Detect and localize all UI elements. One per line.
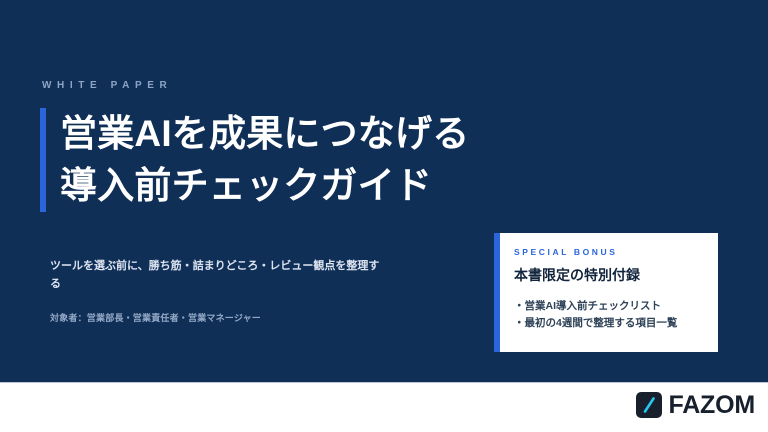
brand-logo: FAZOM bbox=[636, 392, 756, 418]
audience-text: 対象者：営業部長・営業責任者・営業マネージャー bbox=[50, 311, 261, 324]
list-item: ・営業AI導入前チェックリスト bbox=[514, 298, 706, 315]
special-bonus-card: SPECIAL BONUS 本書限定の特別付録 ・営業AI導入前チェックリスト … bbox=[494, 233, 718, 352]
footer-bar: FAZOM bbox=[0, 384, 768, 432]
bonus-card-list: ・営業AI導入前チェックリスト ・最初の4週間で整理する項目一覧 bbox=[514, 298, 706, 332]
title-block: 営業AIを成果につなげる 導入前チェックガイド bbox=[40, 108, 469, 212]
bonus-card-title: 本書限定の特別付録 bbox=[514, 265, 706, 285]
page-title-line-1: 営業AIを成果につなげる bbox=[60, 108, 469, 160]
slash-mark-icon bbox=[636, 392, 662, 418]
page-title-line-2: 導入前チェックガイド bbox=[60, 160, 469, 212]
subtitle-text: ツールを選ぶ前に、勝ち筋・詰まりどころ・レビュー観点を整理する bbox=[50, 258, 380, 293]
bonus-card-body: SPECIAL BONUS 本書限定の特別付録 ・営業AI導入前チェックリスト … bbox=[500, 233, 718, 352]
eyebrow-label: WHITE PAPER bbox=[42, 80, 172, 91]
bonus-eyebrow-label: SPECIAL BONUS bbox=[514, 247, 706, 257]
hero-section: WHITE PAPER 営業AIを成果につなげる 導入前チェックガイド ツールを… bbox=[0, 0, 768, 383]
whitepaper-cover-slide: WHITE PAPER 営業AIを成果につなげる 導入前チェックガイド ツールを… bbox=[0, 0, 768, 432]
title-lines: 営業AIを成果につなげる 導入前チェックガイド bbox=[46, 108, 469, 212]
brand-wordmark: FAZOM bbox=[669, 392, 756, 418]
list-item: ・最初の4週間で整理する項目一覧 bbox=[514, 315, 706, 332]
